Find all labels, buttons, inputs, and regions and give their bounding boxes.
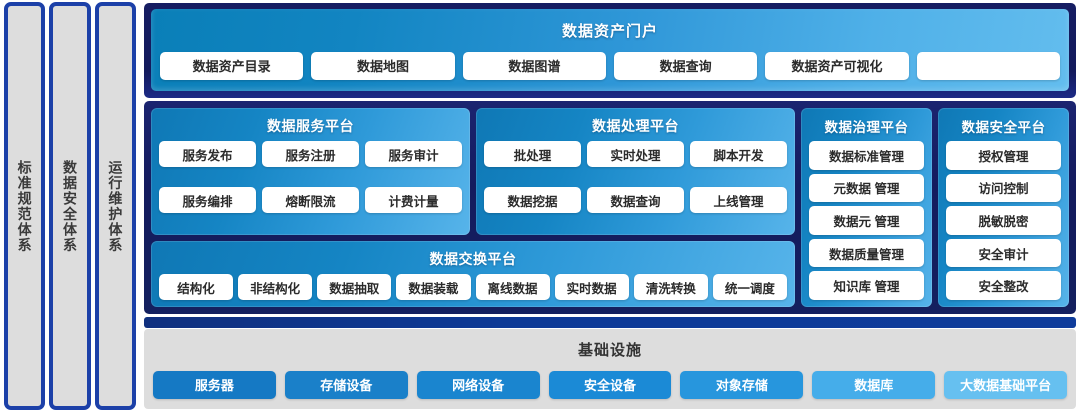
portal-item-asset-visualization[interactable]: 数据资产可视化: [765, 52, 908, 80]
data-exchange-platform: 数据交换平台 结构化 非结构化 数据抽取 数据装载 离线数据 实时数据 清洗转换…: [151, 241, 795, 307]
data-asset-portal-panel: 数据资产门户 数据资产目录 数据地图 数据图谱 数据查询 数据资产可视化: [151, 9, 1069, 91]
security-item-security-audit[interactable]: 安全审计: [946, 239, 1061, 268]
security-item-access-control[interactable]: 访问控制: [946, 174, 1061, 203]
infrastructure-title: 基础设施: [578, 339, 642, 360]
governance-item-knowledge-base[interactable]: 知识库 管理: [809, 271, 924, 300]
platform-title: 数据处理平台: [592, 116, 679, 136]
pillar-label: 运行维护体系: [108, 160, 122, 253]
processing-item-data-query[interactable]: 数据查询: [587, 187, 684, 213]
processing-item-release-mgmt[interactable]: 上线管理: [690, 187, 787, 213]
platform-title: 数据服务平台: [267, 116, 354, 136]
infra-item-object-storage[interactable]: 对象存储: [680, 371, 803, 399]
pillar-label: 标准规范体系: [18, 160, 32, 253]
infra-item-storage-device[interactable]: 存储设备: [285, 371, 408, 399]
portal-item-row: 数据资产目录 数据地图 数据图谱 数据查询 数据资产可视化: [160, 48, 1060, 83]
pillar-operations-maintenance[interactable]: 运行维护体系: [95, 2, 136, 410]
pillar-standards[interactable]: 标准规范体系: [4, 2, 45, 410]
service-item-circuit-breaker[interactable]: 熔断限流: [262, 187, 359, 213]
infra-item-server[interactable]: 服务器: [153, 371, 276, 399]
exchange-item-row: 结构化 非结构化 数据抽取 数据装载 离线数据 实时数据 清洗转换 统一调度: [159, 274, 787, 300]
governance-item-stack: 数据标准管理 元数据 管理 数据元 管理 数据质量管理 知识库 管理: [809, 141, 924, 300]
processing-item-data-mining[interactable]: 数据挖据: [484, 187, 581, 213]
portal-frame: 数据资产门户 数据资产目录 数据地图 数据图谱 数据查询 数据资产可视化: [144, 3, 1076, 98]
security-item-desensitization[interactable]: 脱敏脱密: [946, 206, 1061, 235]
portal-item-empty[interactable]: [917, 52, 1060, 80]
exchange-item-unified-schedule[interactable]: 统一调度: [713, 274, 787, 300]
service-item-register[interactable]: 服务注册: [262, 141, 359, 167]
architecture-diagram: 标准规范体系 数据安全体系 运行维护体系 数据资产门户 数据资产目录 数据地图 …: [0, 0, 1080, 412]
exchange-item-offline-data[interactable]: 离线数据: [476, 274, 550, 300]
infra-item-network-device[interactable]: 网络设备: [417, 371, 540, 399]
exchange-item-load[interactable]: 数据装载: [396, 274, 470, 300]
portal-item-data-graph[interactable]: 数据图谱: [463, 52, 606, 80]
data-service-platform: 数据服务平台 服务发布 服务注册 服务审计 服务编排 熔断限流 计费计量: [151, 108, 470, 235]
service-item-orchestrate[interactable]: 服务编排: [159, 187, 256, 213]
portal-item-data-map[interactable]: 数据地图: [311, 52, 454, 80]
infra-item-security-device[interactable]: 安全设备: [549, 371, 672, 399]
pillar-data-security[interactable]: 数据安全体系: [49, 2, 90, 410]
exchange-item-unstructured[interactable]: 非结构化: [238, 274, 312, 300]
main-stack: 数据资产门户 数据资产目录 数据地图 数据图谱 数据查询 数据资产可视化 数据服…: [140, 0, 1080, 412]
platform-right-column: 数据治理平台 数据标准管理 元数据 管理 数据元 管理 数据质量管理 知识库 管…: [801, 108, 1069, 307]
exchange-item-realtime-data[interactable]: 实时数据: [555, 274, 629, 300]
infra-item-database[interactable]: 数据库: [812, 371, 935, 399]
infrastructure-divider: [144, 317, 1076, 328]
pillar-label: 数据安全体系: [63, 160, 77, 253]
platform-title: 数据交换平台: [430, 249, 517, 269]
service-item-audit[interactable]: 服务审计: [365, 141, 462, 167]
security-item-authorization[interactable]: 授权管理: [946, 141, 1061, 170]
service-item-billing[interactable]: 计费计量: [365, 187, 462, 213]
security-item-stack: 授权管理 访问控制 脱敏脱密 安全审计 安全整改: [946, 141, 1061, 300]
exchange-item-structured[interactable]: 结构化: [159, 274, 233, 300]
exchange-item-extract[interactable]: 数据抽取: [317, 274, 391, 300]
vertical-pillars-group: 标准规范体系 数据安全体系 运行维护体系: [0, 0, 140, 412]
service-item-publish[interactable]: 服务发布: [159, 141, 256, 167]
security-item-security-rectify[interactable]: 安全整改: [946, 271, 1061, 300]
portal-item-asset-catalog[interactable]: 数据资产目录: [160, 52, 303, 80]
governance-item-data-element[interactable]: 数据元 管理: [809, 206, 924, 235]
processing-item-grid: 批处理 实时处理 脚本开发 数据挖据 数据查询 上线管理: [484, 141, 787, 228]
infra-item-bigdata-platform[interactable]: 大数据基础平台: [944, 371, 1067, 399]
platform-title: 数据治理平台: [825, 116, 909, 136]
platform-title: 数据安全平台: [962, 116, 1046, 136]
infrastructure-panel: 基础设施 服务器 存储设备 网络设备 安全设备 对象存储 数据库 大数据基础平台: [144, 329, 1076, 409]
service-item-grid: 服务发布 服务注册 服务审计 服务编排 熔断限流 计费计量: [159, 141, 462, 228]
infrastructure-item-row: 服务器 存储设备 网络设备 安全设备 对象存储 数据库 大数据基础平台: [153, 368, 1067, 401]
processing-item-realtime[interactable]: 实时处理: [587, 141, 684, 167]
platform-band: 数据服务平台 服务发布 服务注册 服务审计 服务编排 熔断限流 计费计量 数据处…: [144, 101, 1076, 314]
processing-item-batch[interactable]: 批处理: [484, 141, 581, 167]
governance-item-data-quality[interactable]: 数据质量管理: [809, 239, 924, 268]
portal-title: 数据资产门户: [562, 20, 658, 41]
data-security-platform: 数据安全平台 授权管理 访问控制 脱敏脱密 安全审计 安全整改: [938, 108, 1069, 307]
governance-item-metadata[interactable]: 元数据 管理: [809, 174, 924, 203]
processing-item-script-dev[interactable]: 脚本开发: [690, 141, 787, 167]
exchange-item-cleanse-transform[interactable]: 清洗转换: [634, 274, 708, 300]
data-processing-platform: 数据处理平台 批处理 实时处理 脚本开发 数据挖据 数据查询 上线管理: [476, 108, 795, 235]
data-governance-platform: 数据治理平台 数据标准管理 元数据 管理 数据元 管理 数据质量管理 知识库 管…: [801, 108, 932, 307]
portal-item-data-query[interactable]: 数据查询: [614, 52, 757, 80]
platform-left-column: 数据服务平台 服务发布 服务注册 服务审计 服务编排 熔断限流 计费计量 数据处…: [151, 108, 795, 307]
governance-item-data-standard[interactable]: 数据标准管理: [809, 141, 924, 170]
platform-top-row: 数据服务平台 服务发布 服务注册 服务审计 服务编排 熔断限流 计费计量 数据处…: [151, 108, 795, 235]
